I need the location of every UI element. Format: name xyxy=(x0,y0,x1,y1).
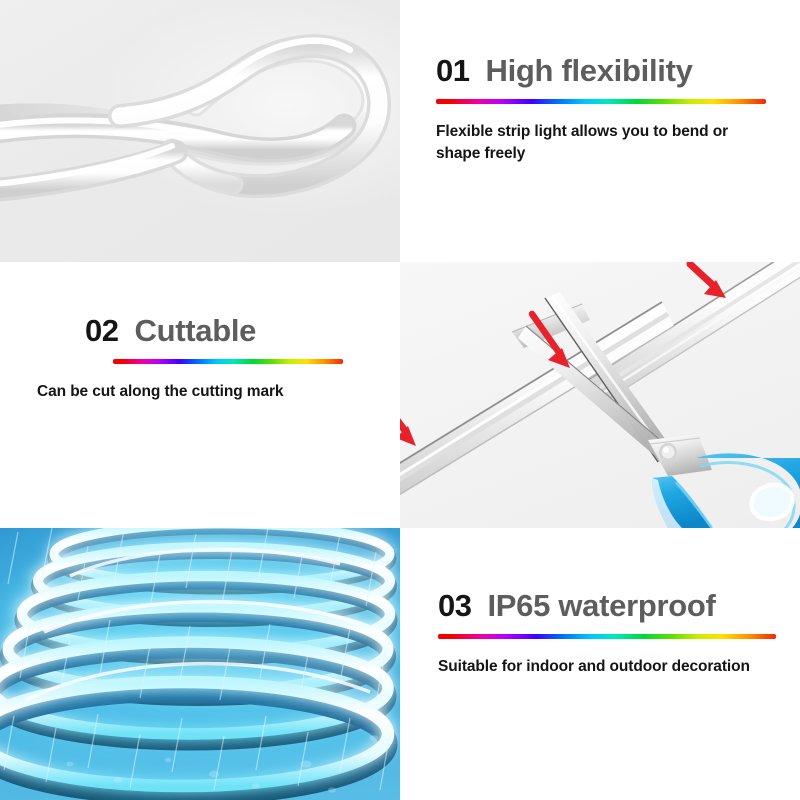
feature-number-01: 01 xyxy=(436,55,469,86)
infographic-sheet: 01 High flexibility Flexible strip light… xyxy=(0,0,800,800)
feature-block-01: 01 High flexibility Flexible strip light… xyxy=(436,55,766,165)
feature-description-02: Can be cut along the cutting mark xyxy=(37,381,349,403)
feature-title-01: High flexibility xyxy=(485,55,692,86)
feature-text-flexibility: 01 High flexibility Flexible strip light… xyxy=(400,0,800,262)
feature-number-03: 03 xyxy=(438,590,471,621)
feature-text-waterproof: 03 IP65 waterproof Suitable for indoor a… xyxy=(400,528,800,800)
feature-heading-01: 01 High flexibility xyxy=(436,55,766,86)
rainbow-divider-03 xyxy=(438,634,776,639)
feature-photo-waterproof xyxy=(0,528,400,800)
feature-heading-03: 03 IP65 waterproof xyxy=(438,590,776,621)
feature-description-01: Flexible strip light allows you to bend … xyxy=(436,121,766,165)
feature-text-cuttable: 02 Cuttable Can be cut along the cutting… xyxy=(0,262,400,528)
scissors-cutting-illustration xyxy=(400,262,800,528)
flexible-strip-illustration xyxy=(0,0,400,262)
arrow-left xyxy=(400,408,416,446)
feature-title-02: Cuttable xyxy=(134,315,256,346)
rainbow-divider-01 xyxy=(436,99,766,104)
feature-heading-02: 02 Cuttable xyxy=(37,315,349,346)
feature-number-02: 02 xyxy=(85,315,118,346)
neon-coil-illustration xyxy=(0,528,400,800)
arrow-top-right xyxy=(690,264,726,298)
feature-title-03: IP65 waterproof xyxy=(487,590,715,621)
feature-photo-flexibility xyxy=(0,0,400,262)
feature-description-03: Suitable for indoor and outdoor decorati… xyxy=(438,656,776,678)
feature-block-02: 02 Cuttable Can be cut along the cutting… xyxy=(37,315,349,403)
rainbow-divider-02 xyxy=(113,359,343,364)
feature-photo-cuttable xyxy=(400,262,800,528)
feature-block-03: 03 IP65 waterproof Suitable for indoor a… xyxy=(438,590,776,678)
